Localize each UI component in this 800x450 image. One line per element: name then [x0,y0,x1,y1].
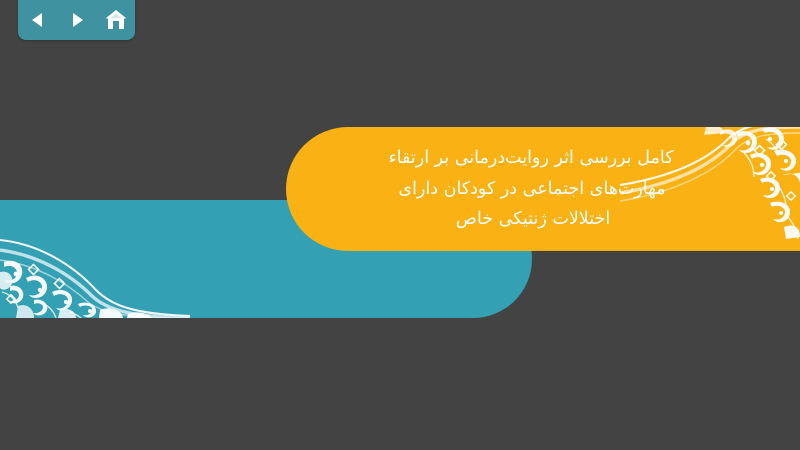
home-button[interactable] [102,6,130,34]
navigation-bar [18,0,135,40]
title-line-1: کامل بررسی اثر روایت‌درمانی بر ارتقاء [388,144,673,172]
teal-arabesque-ornament [0,200,190,318]
title-line-3: اختلالات ژنتیکی خاص [456,205,610,233]
back-button[interactable] [24,6,52,34]
home-icon [104,9,128,31]
title-text-block: کامل بررسی اثر روایت‌درمانی بر ارتقاء مه… [286,127,800,251]
slide-canvas: کامل بررسی اثر روایت‌درمانی بر ارتقاء مه… [0,0,800,450]
forward-button[interactable] [63,6,91,34]
title-line-2: مهارت‌های اجتماعی در کودکان دارای [398,175,665,203]
triangle-left-icon [28,10,48,30]
title-banner: کامل بررسی اثر روایت‌درمانی بر ارتقاء مه… [286,127,800,251]
triangle-right-icon [67,10,87,30]
